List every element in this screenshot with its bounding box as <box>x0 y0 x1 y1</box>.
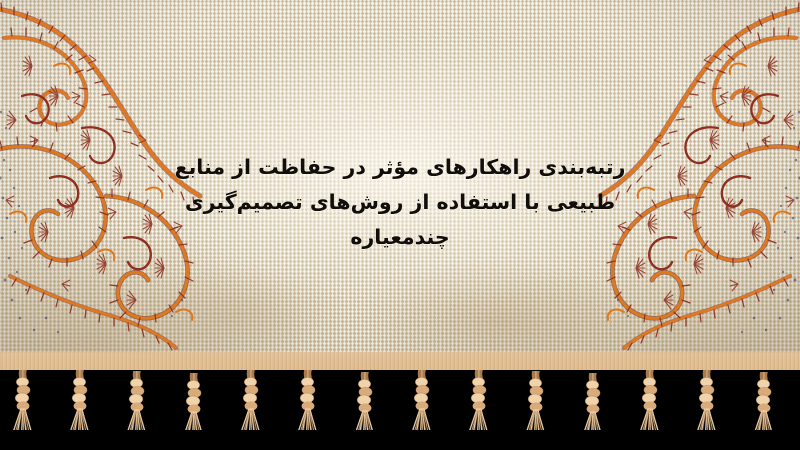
slide-title: رتبه‌بندی راهکارهای مؤثر در حفاظت از منا… <box>0 150 800 255</box>
title-line-1: رتبه‌بندی راهکارهای مؤثر در حفاظت از منا… <box>0 150 800 185</box>
title-line-2: طبیعی با استفاده از روش‌های تصمیم‌گیری <box>0 185 800 220</box>
title-line-3: چندمعیاره <box>0 220 800 255</box>
slide-canvas: رتبه‌بندی راهکارهای مؤثر در حفاظت از منا… <box>0 0 800 450</box>
black-background-floor <box>0 430 800 450</box>
